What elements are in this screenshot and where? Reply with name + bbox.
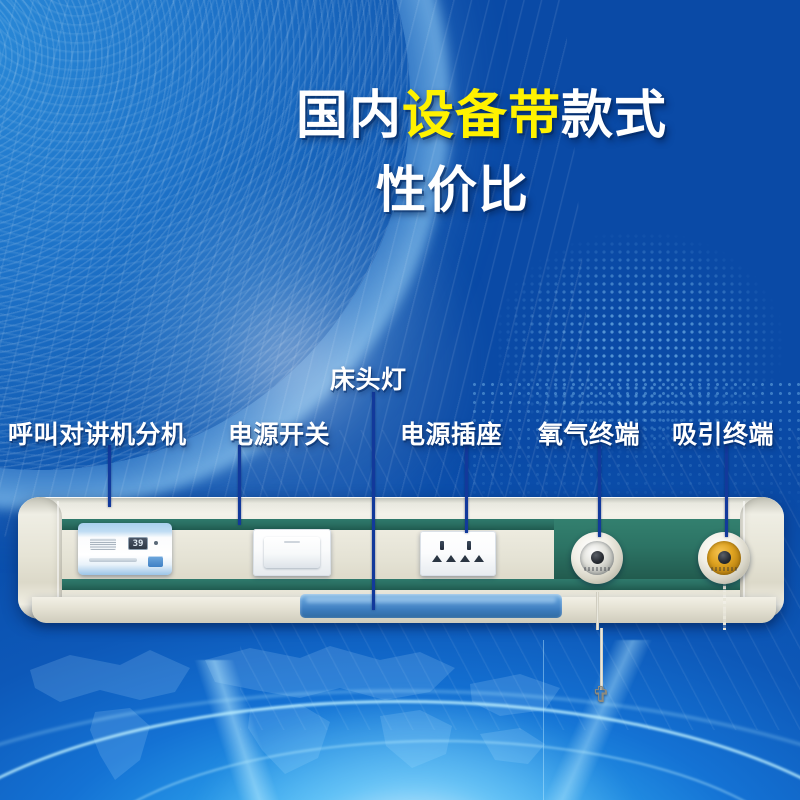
pull-cord-hook-icon: ✞ bbox=[592, 685, 608, 707]
leader-line-intercom bbox=[108, 445, 111, 507]
headline-line-2: 性价比 bbox=[376, 162, 529, 218]
leader-line-bed-lamp bbox=[372, 392, 375, 610]
headline-text-equipment-belt: 设备带 bbox=[402, 86, 561, 146]
bed-lamp-diffuser[interactable] bbox=[300, 594, 562, 618]
oxygen-hose-drop bbox=[596, 592, 599, 630]
callout-label-bed-lamp: 床头灯 bbox=[330, 360, 407, 396]
horizon-glow bbox=[180, 690, 650, 800]
nurse-call-intercom-unit[interactable]: 39 bbox=[78, 523, 172, 575]
intercom-speaker-grille bbox=[90, 538, 116, 550]
power-socket-plate[interactable] bbox=[420, 531, 496, 576]
socket-slot-b2 bbox=[474, 555, 484, 562]
socket-slot-a1 bbox=[432, 555, 442, 562]
headline-text-domestic: 国内 bbox=[296, 86, 402, 146]
leader-line-power-switch bbox=[238, 445, 241, 525]
callout-label-intercom: 呼叫对讲机分机 bbox=[8, 415, 187, 451]
intercom-call-button[interactable] bbox=[148, 556, 163, 567]
callout-label-power-socket: 电源插座 bbox=[400, 415, 502, 451]
oxygen-terminal-outlet[interactable] bbox=[571, 532, 623, 584]
oxygen-terminal-marking bbox=[584, 567, 610, 571]
panel-stripe-bottom bbox=[40, 579, 784, 590]
leader-line-power-socket bbox=[465, 445, 468, 533]
suction-terminal-marking bbox=[711, 567, 737, 571]
leader-line-oxygen-terminal bbox=[598, 445, 601, 537]
suction-terminal-face bbox=[707, 541, 741, 575]
intercom-led-indicator bbox=[154, 541, 158, 545]
intercom-card-slot bbox=[89, 558, 137, 562]
callout-label-suction-terminal: 吸引终端 bbox=[672, 415, 774, 451]
headline-line-1: 国内设备带款式 bbox=[296, 88, 667, 144]
leader-line-suction-terminal bbox=[725, 445, 728, 537]
oxygen-terminal-face bbox=[580, 541, 614, 575]
socket-pin-a1 bbox=[440, 541, 444, 550]
intercom-display: 39 bbox=[128, 537, 148, 550]
callout-label-power-switch: 电源开关 bbox=[228, 415, 330, 451]
socket-slot-b1 bbox=[460, 555, 470, 562]
pull-cord[interactable] bbox=[600, 628, 603, 690]
socket-slot-a2 bbox=[446, 555, 456, 562]
headline-text-value-ratio: 性价比 bbox=[376, 161, 529, 219]
socket-pin-b1 bbox=[467, 541, 471, 550]
headline-text-style: 款式 bbox=[561, 86, 667, 146]
callout-label-oxygen-terminal: 氧气终端 bbox=[538, 415, 640, 451]
poster-canvas: 国内设备带款式 性价比 高 呼叫对讲机分机 电源开关 床头灯 电源插座 氧气终端… bbox=[0, 0, 800, 800]
suction-terminal-outlet[interactable] bbox=[698, 532, 750, 584]
oxygen-terminal-port bbox=[591, 551, 604, 564]
suction-terminal-port bbox=[718, 551, 731, 564]
suction-hose-drop bbox=[723, 580, 726, 630]
power-switch-plate[interactable] bbox=[253, 529, 331, 576]
power-switch-rocker[interactable] bbox=[264, 537, 320, 568]
